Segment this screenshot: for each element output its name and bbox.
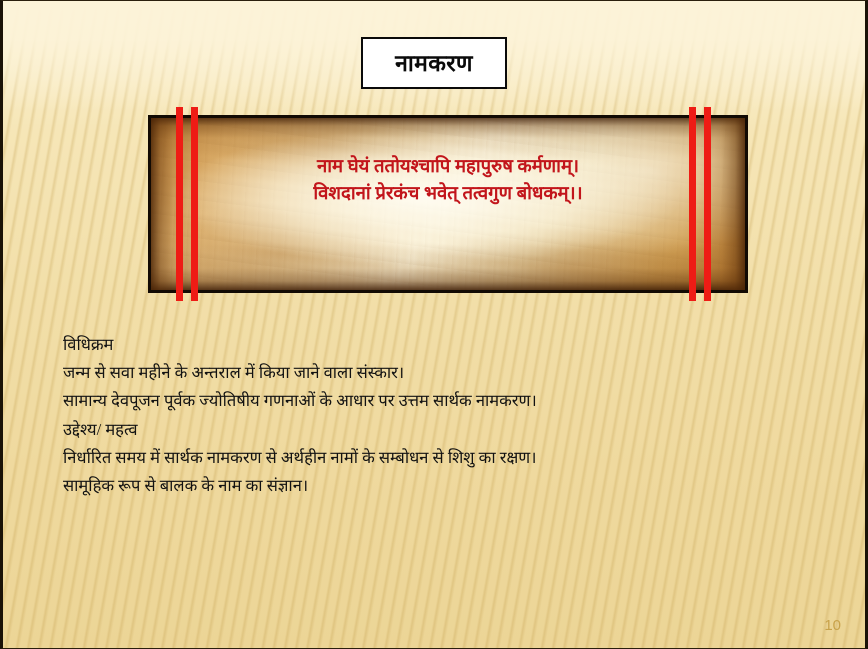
page-number: 10 — [824, 617, 841, 634]
slide-body-text: विधिक्रम जन्म से सवा महीने के अन्तराल मे… — [63, 331, 703, 500]
body-line-uddeshya-1: निर्धारित समय में सार्थक नामकरण से अर्थह… — [63, 444, 703, 472]
sanskrit-verse: नाम घेयं ततोयश्चापि महापुरुष कर्मणाम्। व… — [151, 154, 745, 209]
accent-bar-left-outer — [176, 107, 183, 301]
parchment-verse-panel: नाम घेयं ततोयश्चापि महापुरुष कर्मणाम्। व… — [148, 115, 748, 293]
body-heading-vidhikram: विधिक्रम — [63, 331, 703, 359]
body-line-uddeshya-2: सामूहिक रूप से बालक के नाम का संज्ञान। — [63, 472, 703, 500]
accent-bar-right-inner — [689, 107, 696, 301]
presentation-slide: नामकरण नाम घेयं ततोयश्चापि महापुरुष कर्म… — [0, 0, 868, 649]
accent-bar-left-inner — [191, 107, 198, 301]
verse-line-2: विशदानां प्रेरकंच भवेत् तत्वगुण बोधकम्।। — [151, 181, 745, 208]
body-line-vidhikram-1: जन्म से सवा महीने के अन्तराल में किया जा… — [63, 359, 703, 387]
verse-line-1: नाम घेयं ततोयश्चापि महापुरुष कर्मणाम्। — [151, 154, 745, 181]
page-title: नामकरण — [395, 52, 473, 75]
accent-bar-right-outer — [704, 107, 711, 301]
body-heading-uddeshya: उद्देश्य/ महत्व — [63, 416, 703, 444]
parchment-frame: नाम घेयं ततोयश्चापि महापुरुष कर्मणाम्। व… — [148, 115, 748, 293]
body-line-vidhikram-2: सामान्य देवपूजन पूर्वक ज्योतिषीय गणनाओं … — [63, 387, 703, 415]
slide-title-box: नामकरण — [361, 37, 507, 89]
